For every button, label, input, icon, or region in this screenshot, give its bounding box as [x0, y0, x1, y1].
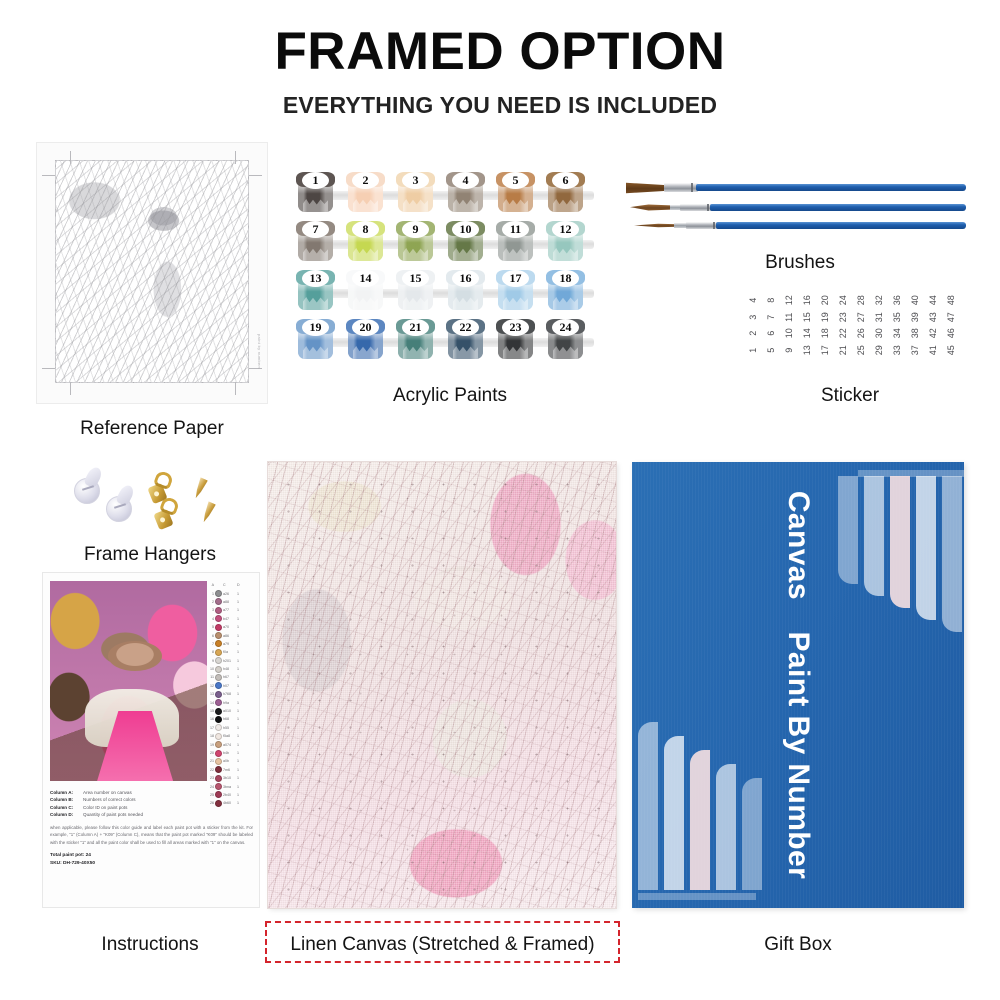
instructions-text-block: Column A:Area number on canvasColumn B:N…: [50, 789, 253, 868]
paint-pot-number: 10: [452, 221, 479, 238]
round-brush: [630, 202, 966, 213]
legend-color-swatch: [215, 724, 222, 731]
legend-color-id: a86: [223, 634, 236, 638]
legend-row: 5a701: [208, 623, 254, 631]
sticker-number: 41: [925, 341, 942, 359]
instructions-color-legend: ACD1a2612a8813a7714b4715a7016a8617a7918f…: [208, 581, 254, 799]
legend-row: 4b471: [208, 615, 254, 623]
legend-row: 13h7681: [208, 690, 254, 698]
instructions-column-key: Column A:Area number on canvas: [50, 789, 253, 796]
legend-area-number: 20: [208, 751, 214, 755]
sticker-number: 14: [799, 324, 816, 342]
legend-color-id: h67: [223, 675, 236, 679]
legend-row: 16h681: [208, 715, 254, 723]
legend-color-id: h07: [223, 684, 236, 688]
legend-area-number: 18: [208, 734, 214, 738]
legend-color-swatch: [215, 750, 222, 757]
plastic-hanger-icon: [106, 496, 132, 522]
caption-reference-paper: Reference Paper: [36, 418, 268, 440]
flat-brush: [626, 182, 966, 193]
instructions-column-desc: Numbers of correct colors: [83, 796, 136, 803]
legend-color-swatch: [215, 649, 222, 656]
reference-paper-lineart: [55, 160, 249, 383]
legend-color-id: 3b10: [223, 776, 236, 780]
gift-box-stripe: [638, 722, 658, 890]
paint-pot: 7: [296, 221, 335, 262]
reference-paper-item: paint by numbers: [36, 142, 268, 404]
legend-area-number: 21: [208, 759, 214, 763]
legend-color-swatch: [215, 708, 222, 715]
legend-color-swatch: [215, 682, 222, 689]
paint-pot: 12: [546, 221, 585, 262]
legend-area-number: 16: [208, 717, 214, 721]
sticker-number: 27: [853, 308, 870, 326]
legend-header-row: ACD: [208, 581, 254, 589]
caption-acrylic-paints: Acrylic Paints: [320, 385, 580, 407]
legend-row: 15a0101: [208, 707, 254, 715]
legend-row: 14h9a1: [208, 698, 254, 706]
legend-color-swatch: [215, 632, 222, 639]
instructions-column-name: Column C:: [50, 804, 78, 811]
legend-color-id: b4b: [223, 751, 236, 755]
sticker-number: 32: [871, 291, 888, 309]
sticker-number: 46: [943, 324, 960, 342]
paint-pot-number: 8: [352, 221, 379, 238]
legend-area-number: 5: [208, 625, 214, 629]
crop-mark-icon: [42, 368, 55, 369]
paint-pot-number: 24: [552, 319, 579, 336]
sticker-number: 43: [925, 308, 942, 326]
legend-color-id: a79: [223, 642, 236, 646]
legend-row: 2a881: [208, 598, 254, 606]
paint-pot: 2: [346, 172, 385, 213]
caption-gift-box: Gift Box: [632, 934, 964, 956]
legend-row: 12h071: [208, 682, 254, 690]
legend-quantity: 1: [237, 600, 242, 604]
sticker-number: 42: [925, 324, 942, 342]
legend-color-id: h201: [223, 659, 236, 663]
legend-quantity: 1: [237, 617, 242, 621]
legend-color-id: a26: [223, 592, 236, 596]
legend-quantity: 1: [237, 726, 242, 730]
legend-area-number: 24: [208, 785, 214, 789]
paint-pot: 5: [496, 172, 535, 213]
legend-color-swatch: [215, 716, 222, 723]
legend-quantity: 1: [237, 592, 242, 596]
legend-area-number: 7: [208, 642, 214, 646]
legend-area-number: 19: [208, 743, 214, 747]
legend-area-number: 12: [208, 684, 214, 688]
paint-pot: 21: [396, 319, 435, 360]
legend-header-a: A: [208, 583, 214, 587]
legend-quantity: 1: [237, 717, 242, 721]
detail-brush-handle: [716, 222, 966, 229]
legend-color-swatch: [215, 598, 222, 605]
legend-quantity: 1: [237, 659, 242, 663]
paint-pot: 10: [446, 221, 485, 262]
legend-color-id: a010: [223, 709, 236, 713]
legend-color-swatch: [215, 666, 222, 673]
d-ring-hanger-icon: [156, 498, 178, 528]
legend-row: 9h2011: [208, 657, 254, 665]
paint-pot: 3: [396, 172, 435, 213]
legend-row: 1a261: [208, 589, 254, 597]
legend-color-swatch: [215, 691, 222, 698]
instructions-paragraph: when applicable, please follow this colo…: [50, 824, 253, 846]
legend-color-swatch: [215, 775, 222, 782]
sticker-number: 44: [925, 291, 942, 309]
sticker-number: 34: [889, 324, 906, 342]
legend-row: 17h551: [208, 724, 254, 732]
sticker-number: 30: [871, 324, 888, 342]
screw-icon: [192, 477, 208, 499]
legend-area-number: 11: [208, 675, 214, 679]
legend-area-number: 15: [208, 709, 214, 713]
brushes-item: [626, 178, 966, 248]
instructions-total-paint-pot: Total paint pot: 24: [50, 852, 253, 860]
instructions-column-name: Column B:: [50, 796, 78, 803]
paint-pot: 23: [496, 319, 535, 360]
paint-pot: 22: [446, 319, 485, 360]
instructions-sku: SKU: DH-729-40X50: [50, 860, 253, 868]
legend-color-id: f5a8: [223, 734, 236, 738]
page-subtitle: EVERYTHING YOU NEED IS INCLUDED: [0, 92, 1000, 119]
paint-pot-number: 13: [302, 270, 329, 287]
gift-box-stripe: [716, 764, 736, 890]
legend-color-id: h68: [223, 717, 236, 721]
legend-area-number: 10: [208, 667, 214, 671]
sticker-number: 21: [835, 341, 852, 359]
paint-pot-number: 3: [402, 172, 429, 189]
paint-pot-number: 11: [502, 221, 529, 238]
legend-color-swatch: [215, 674, 222, 681]
legend-color-id: 3bna: [223, 785, 236, 789]
legend-color-swatch: [215, 766, 222, 773]
instructions-column-desc: Area number on canvas: [83, 789, 132, 796]
paint-pot: 18: [546, 270, 585, 311]
legend-row: 21a0b1: [208, 757, 254, 765]
legend-area-number: 14: [208, 701, 214, 705]
sticker-number: 1: [745, 341, 762, 359]
paint-pot-number: 22: [452, 319, 479, 336]
legend-color-id: a70: [223, 625, 236, 629]
caption-instructions: Instructions: [40, 934, 260, 956]
linen-canvas-weave-texture: [268, 462, 616, 908]
legend-header-b: [215, 582, 222, 589]
legend-area-number: 9: [208, 659, 214, 663]
paint-pot-row: 192021222324: [296, 315, 596, 364]
legend-color-id: a77: [223, 608, 236, 612]
paint-pot-number: 5: [502, 172, 529, 189]
sticker-number: 18: [817, 324, 834, 342]
legend-area-number: 8: [208, 650, 214, 654]
legend-area-number: 13: [208, 692, 214, 696]
legend-quantity: 1: [237, 701, 242, 705]
sticker-number: 4: [745, 291, 762, 309]
gift-box-stripe: [664, 736, 684, 890]
legend-area-number: 2: [208, 600, 214, 604]
gift-box-title: Canvas Paint By Number: [781, 491, 815, 879]
legend-area-number: 3: [208, 608, 214, 612]
gift-box-stripe: [838, 476, 858, 584]
instructions-column-desc: Quantity of paint pots needed: [83, 811, 143, 818]
legend-color-swatch: [215, 699, 222, 706]
legend-quantity: 1: [237, 734, 242, 738]
legend-color-id: h768: [223, 692, 236, 696]
legend-color-id: a88: [223, 600, 236, 604]
instructions-column-name: Column A:: [50, 789, 78, 796]
paint-pot: 17: [496, 270, 535, 311]
caption-linen-canvas: Linen Canvas (Stretched & Framed): [265, 934, 620, 956]
sticker-number: 26: [853, 324, 870, 342]
sticker-number: 12: [781, 291, 798, 309]
caption-frame-hangers: Frame Hangers: [40, 544, 260, 566]
gift-box-item: Canvas Paint By Number: [632, 462, 964, 908]
legend-quantity: 1: [237, 709, 242, 713]
legend-quantity: 1: [237, 776, 242, 780]
legend-row: 3a771: [208, 606, 254, 614]
legend-quantity: 1: [237, 768, 242, 772]
sticker-number: 9: [781, 341, 798, 359]
sticker-number: 10: [781, 324, 798, 342]
legend-row: 19a0741: [208, 740, 254, 748]
legend-color-swatch: [215, 590, 222, 597]
paint-pot-row: 789101112: [296, 217, 596, 266]
legend-row: 11h671: [208, 673, 254, 681]
detail-brush-tip-icon: [634, 223, 678, 228]
legend-color-swatch: [215, 624, 222, 631]
sticker-number: 15: [799, 308, 816, 326]
sticker-number: 16: [799, 291, 816, 309]
sticker-number: 7: [763, 308, 780, 326]
crop-mark-icon: [235, 382, 236, 395]
sticker-number: 23: [835, 308, 852, 326]
legend-row: 7a791: [208, 640, 254, 648]
crop-mark-icon: [249, 175, 262, 176]
paint-pot-number: 21: [402, 319, 429, 336]
legend-row: 20b4b1: [208, 749, 254, 757]
legend-color-swatch: [215, 733, 222, 740]
sticker-number: 6: [763, 324, 780, 342]
legend-quantity: 1: [237, 675, 242, 679]
legend-quantity: 1: [237, 642, 242, 646]
sticker-number: 17: [817, 341, 834, 359]
paint-pot-number: 15: [402, 270, 429, 287]
gift-box-stripe: [864, 476, 884, 596]
sticker-number: 47: [943, 308, 960, 326]
paint-pot: 6: [546, 172, 585, 213]
gift-box-stripe: [916, 476, 936, 620]
sticker-number: 45: [943, 341, 960, 359]
linen-canvas-item: [268, 462, 616, 908]
legend-color-swatch: [215, 607, 222, 614]
paint-pot-number: 6: [552, 172, 579, 189]
legend-quantity: 1: [237, 667, 242, 671]
acrylic-paints-item: 123456789101112131415161718192021222324: [296, 168, 596, 364]
sticker-number: 3: [745, 308, 762, 326]
frame-hangers-item: [74, 472, 224, 534]
instructions-reference-image: [50, 581, 207, 781]
legend-quantity: 1: [237, 785, 242, 789]
header: FRAMED OPTION EVERYTHING YOU NEED IS INC…: [0, 24, 1000, 119]
paint-pot-number: 19: [302, 319, 329, 336]
paint-pot: 15: [396, 270, 435, 311]
flat-brush-tip-icon: [626, 182, 666, 194]
crop-mark-icon: [70, 151, 71, 164]
legend-quantity: 1: [237, 743, 242, 747]
sticker-number: 13: [799, 341, 816, 359]
caption-sticker: Sticker: [750, 385, 950, 407]
sticker-number: 19: [817, 308, 834, 326]
legend-quantity: 1: [237, 692, 242, 696]
paint-pot: 14: [346, 270, 385, 311]
gift-box-stripes-bottom-left: [638, 722, 768, 890]
legend-row: 6a861: [208, 631, 254, 639]
round-brush-ferrule: [680, 204, 714, 211]
sticker-number: 35: [889, 308, 906, 326]
legend-area-number: 4: [208, 617, 214, 621]
gift-box-stripe: [742, 778, 762, 890]
plastic-hanger-icon: [74, 478, 100, 504]
legend-row: 233b101: [208, 774, 254, 782]
gift-box-stripe: [690, 750, 710, 890]
caption-brushes: Brushes: [700, 252, 900, 274]
legend-header-c: C: [223, 583, 236, 587]
sticker-number: 11: [781, 308, 798, 326]
paint-pot-number: 2: [352, 172, 379, 189]
sticker-number: 28: [853, 291, 870, 309]
sticker-number: 20: [817, 291, 834, 309]
sticker-number: 2: [745, 324, 762, 342]
sticker-number-grid: 4812162024283236404448371115192327313539…: [744, 292, 960, 358]
instructions-column-desc: Color ID on paint pots: [83, 804, 127, 811]
paint-pot: 20: [346, 319, 385, 360]
sticker-number: 48: [943, 291, 960, 309]
legend-color-id: h55: [223, 726, 236, 730]
legend-area-number: 22: [208, 768, 214, 772]
flat-brush-handle: [696, 184, 966, 191]
instructions-art-hat: [108, 641, 162, 671]
legend-quantity: 1: [237, 684, 242, 688]
instructions-totals: Total paint pot: 24 SKU: DH-729-40X50: [50, 852, 253, 868]
sticker-number: 25: [853, 341, 870, 359]
flat-brush-ferrule: [664, 183, 698, 192]
screw-icon: [200, 501, 216, 523]
instructions-column-key: Column D:Quantity of paint pots needed: [50, 811, 253, 818]
sticker-number: 37: [907, 341, 924, 359]
legend-area-number: 17: [208, 726, 214, 730]
paint-pot-number: 17: [502, 270, 529, 287]
legend-color-id: a074: [223, 743, 236, 747]
gift-box-stripe: [942, 476, 962, 632]
sticker-number: 33: [889, 341, 906, 359]
legend-area-number: 23: [208, 776, 214, 780]
sticker-number: 22: [835, 324, 852, 342]
paint-pot: 16: [446, 270, 485, 311]
sticker-number: 24: [835, 291, 852, 309]
paint-pot-number: 1: [302, 172, 329, 189]
legend-row: 18f5a81: [208, 732, 254, 740]
legend-quantity: 1: [237, 608, 242, 612]
legend-color-swatch: [215, 657, 222, 664]
sticker-number: 39: [907, 308, 924, 326]
round-brush-handle: [710, 204, 966, 211]
gift-box-stripes-top-right: [838, 476, 964, 626]
page-title: FRAMED OPTION: [0, 24, 1000, 80]
paint-pot-number: 12: [552, 221, 579, 238]
paint-pot: 8: [346, 221, 385, 262]
sticker-number: 31: [871, 308, 888, 326]
sticker-number: 5: [763, 341, 780, 359]
instructions-column-key: Column C:Color ID on paint pots: [50, 804, 253, 811]
legend-quantity: 1: [237, 625, 242, 629]
paint-pot-number: 4: [452, 172, 479, 189]
paint-pot-number: 7: [302, 221, 329, 238]
legend-header-d: D: [237, 583, 242, 587]
crop-mark-icon: [235, 151, 236, 164]
legend-color-id: 7m6: [223, 768, 236, 772]
legend-quantity: 1: [237, 759, 242, 763]
legend-color-swatch: [215, 640, 222, 647]
gift-box-title-line1: Canvas: [782, 491, 815, 600]
legend-color-id: f0a: [223, 650, 236, 654]
legend-row: 8f0a1: [208, 648, 254, 656]
paint-pot-number: 18: [552, 270, 579, 287]
legend-quantity: 1: [237, 634, 242, 638]
paint-pot: 9: [396, 221, 435, 262]
paint-pot: 24: [546, 319, 585, 360]
crop-mark-icon: [70, 382, 71, 395]
instructions-column-key-list: Column A:Area number on canvasColumn B:N…: [50, 789, 253, 819]
legend-row: 10h481: [208, 665, 254, 673]
legend-quantity: 1: [237, 751, 242, 755]
sticker-number: 38: [907, 324, 924, 342]
instructions-column-name: Column D:: [50, 811, 78, 818]
sticker-number: 40: [907, 291, 924, 309]
gift-box-stripe: [890, 476, 910, 608]
round-brush-tip-icon: [630, 204, 674, 211]
legend-color-swatch: [215, 758, 222, 765]
paint-pot-row: 131415161718: [296, 266, 596, 315]
legend-color-id: b47: [223, 617, 236, 621]
gift-box-rail-bottom: [638, 893, 756, 900]
paint-pot: 1: [296, 172, 335, 213]
paint-pot: 13: [296, 270, 335, 311]
legend-color-swatch: [215, 741, 222, 748]
paint-pot-number: 9: [402, 221, 429, 238]
detail-brush: [634, 220, 966, 231]
instructions-column-key: Column B:Numbers of correct colors: [50, 796, 253, 803]
instructions-item: ACD1a2612a8813a7714b4715a7016a8617a7918f…: [42, 572, 260, 908]
paint-pot: 11: [496, 221, 535, 262]
detail-brush-ferrule: [686, 222, 720, 229]
legend-color-swatch: [215, 615, 222, 622]
legend-color-id: h48: [223, 667, 236, 671]
legend-quantity: 1: [237, 650, 242, 654]
paint-pot-number: 14: [352, 270, 379, 287]
paint-pot: 4: [446, 172, 485, 213]
sticker-number: 29: [871, 341, 888, 359]
paint-pot-row: 123456: [296, 168, 596, 217]
paint-pot: 19: [296, 319, 335, 360]
paint-pot-number: 16: [452, 270, 479, 287]
legend-row: 227m61: [208, 766, 254, 774]
paint-pot-number: 23: [502, 319, 529, 336]
sticker-number: 36: [889, 291, 906, 309]
sticker-number: 8: [763, 291, 780, 309]
sticker-sheet-item: 4812162024283236404448371115192327313539…: [744, 292, 960, 362]
legend-color-id: a0b: [223, 759, 236, 763]
